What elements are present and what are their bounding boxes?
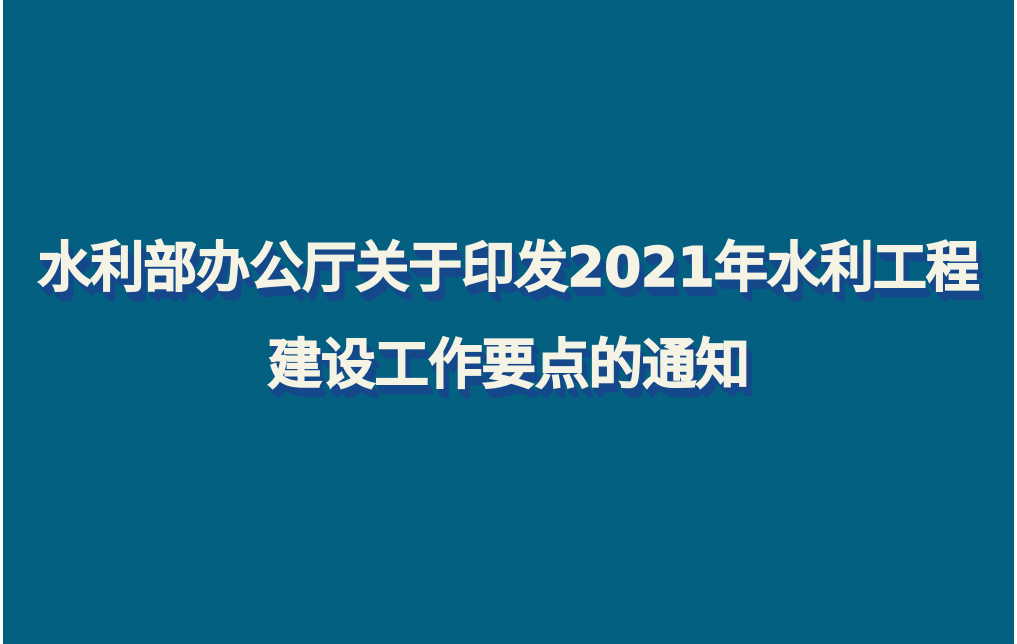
title-line-1: 水利部办公厅关于印发2021年水利工程 (38, 236, 979, 300)
title-line-2: 建设工作要点的通知 (268, 333, 750, 397)
title-banner: 水利部办公厅关于印发2021年水利工程 建设工作要点的通知 (0, 0, 1017, 644)
page-title: 水利部办公厅关于印发2021年水利工程 建设工作要点的通知 (3, 236, 1014, 397)
